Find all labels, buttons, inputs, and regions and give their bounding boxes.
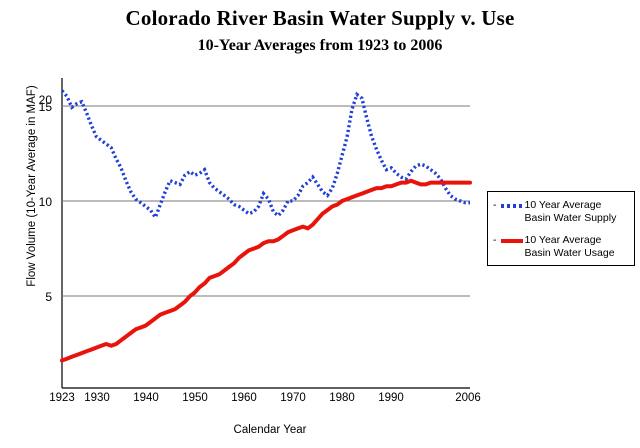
legend-swatch-usage [499,235,525,247]
x-tick-1970: 1970 [273,392,313,404]
usage-series-line [62,181,470,361]
legend-dash-usage: - [493,234,497,247]
x-tick-1940: 1940 [126,392,166,404]
y-tick-10: 10 [22,195,52,209]
x-axis-label: Calendar Year [60,424,480,436]
legend-swatch-supply [499,200,525,212]
legend-dash-supply: - [493,199,497,212]
legend-label-supply: 10 Year Average Basin Water Supply [525,199,617,225]
chart-container: Colorado River Basin Water Supply v. Use… [0,0,640,448]
x-tick-1960: 1960 [224,392,264,404]
x-tick-1990: 1990 [371,392,411,404]
legend-label-usage: 10 Year Average Basin Water Usage [525,234,615,260]
legend-item-usage: - 10 Year Average Basin Water Usage [493,234,629,260]
y-tick-5: 5 [22,290,52,304]
legend: - 10 Year Average Basin Water Supply - 1… [487,191,635,266]
x-tick-2006: 2006 [448,392,488,404]
legend-item-supply: - 10 Year Average Basin Water Supply [493,199,629,225]
x-tick-1950: 1950 [175,392,215,404]
supply-series-line [62,91,470,218]
y-tick-20: 20 [22,93,52,107]
gridlines [62,106,470,296]
x-tick-1923: 1923 [42,392,82,404]
axis-lines [62,78,470,388]
x-tick-1930: 1930 [77,392,117,404]
x-tick-1980: 1980 [322,392,362,404]
